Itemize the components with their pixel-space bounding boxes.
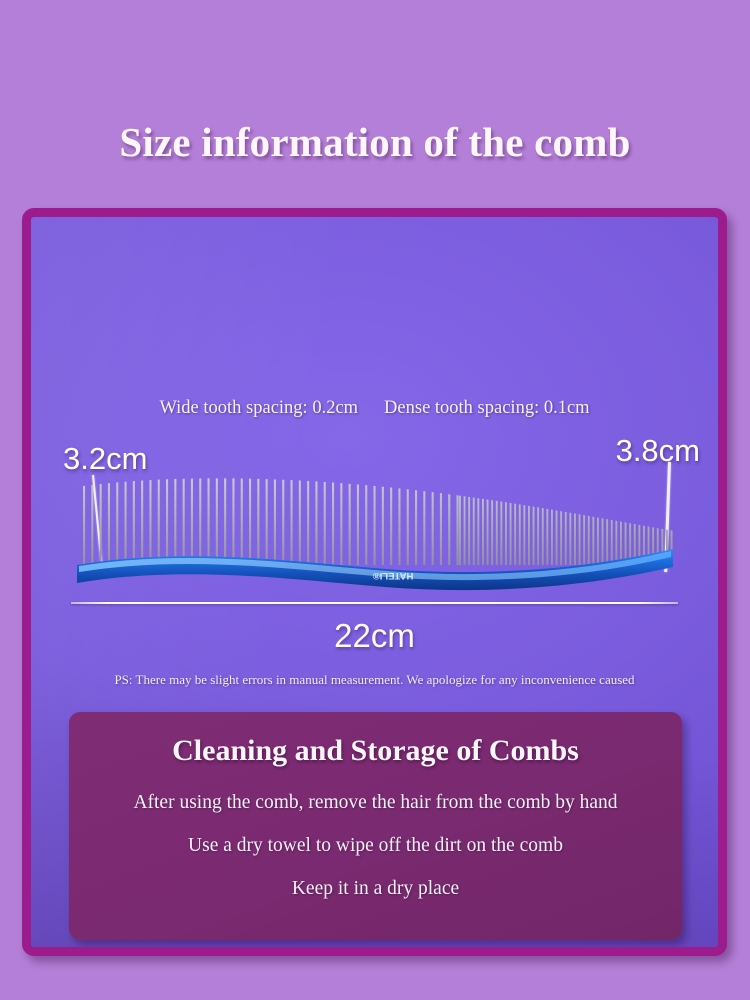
dense-spacing-label: Dense tooth spacing: 0.1cm (384, 398, 590, 419)
measurement-disclaimer: PS: There may be slight errors in manual… (31, 672, 718, 688)
width-measure-label: 22cm (31, 617, 718, 655)
page-title: Size information of the comb (0, 118, 750, 166)
care-line: Keep it in a dry place (69, 878, 682, 900)
care-line: Use a dry towel to wipe off the dirt on … (69, 835, 682, 857)
comb-illustration: HATELI® (75, 469, 675, 594)
brand-mark: HATELI® (373, 570, 414, 581)
product-size-infographic: Size information of the comb Wide tooth … (0, 0, 750, 1000)
care-panel-title: Cleaning and Storage of Combs (69, 734, 682, 768)
care-instructions-panel: Cleaning and Storage of Combs After usin… (69, 712, 682, 940)
size-diagram-frame: Wide tooth spacing: 0.2cm Dense tooth sp… (22, 208, 727, 956)
tooth-spacing-captions: Wide tooth spacing: 0.2cm Dense tooth sp… (31, 398, 718, 419)
care-line: After using the comb, remove the hair fr… (69, 792, 682, 814)
width-measure-line (71, 602, 678, 604)
right-height-label: 3.8cm (616, 433, 700, 469)
comb-teeth (83, 469, 673, 569)
wide-spacing-label: Wide tooth spacing: 0.2cm (159, 398, 358, 419)
